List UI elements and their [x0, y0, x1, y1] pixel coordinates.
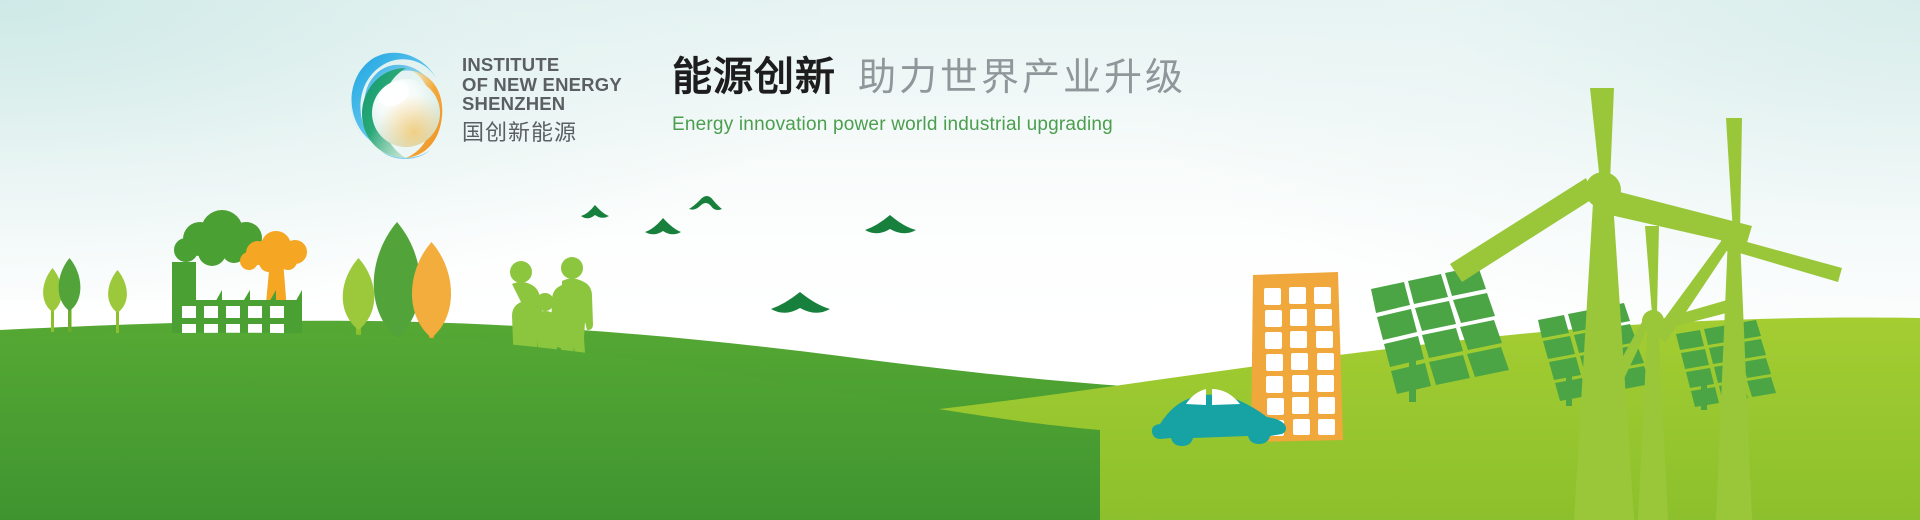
small-trees-left	[43, 258, 127, 333]
headline-row: 能源创新 助力世界产业升级	[672, 44, 1186, 102]
bird-icon	[645, 218, 681, 234]
headline-subtitle: Energy innovation power world industrial…	[672, 114, 1186, 136]
headline-secondary: 助力世界产业升级	[858, 46, 1186, 101]
factory-group	[172, 210, 307, 342]
bird-flock	[581, 196, 916, 313]
globe-swirl-logo-icon	[340, 38, 448, 162]
energy-innovation-banner: INSTITUTE OF NEW ENERGY SHENZHEN 国创新能源 能…	[0, 0, 1920, 520]
logo-line-shenzhen: SHENZHEN	[462, 94, 622, 114]
bird-icon	[689, 196, 722, 210]
trees-mid-group	[343, 222, 451, 352]
logo-text-block: INSTITUTE OF NEW ENERGY SHENZHEN 国创新能源	[462, 51, 622, 149]
grass-valley-fold	[0, 333, 1100, 520]
tree-small	[43, 268, 62, 332]
tree-small	[108, 270, 127, 333]
logo-line-institute: INSTITUTE	[462, 55, 622, 75]
bird-icon	[865, 215, 916, 233]
logo-chinese-name: 国创新能源	[462, 119, 622, 149]
turbine-hub	[1585, 172, 1621, 208]
logo-line-of-new-energy: OF NEW ENERGY	[462, 75, 622, 95]
tree-small	[59, 258, 81, 332]
bird-icon	[581, 205, 609, 218]
turbine-hub	[1642, 310, 1664, 332]
logo-block[interactable]: INSTITUTE OF NEW ENERGY SHENZHEN 国创新能源	[340, 38, 622, 162]
bird-icon	[771, 292, 830, 313]
headline-primary: 能源创新	[672, 44, 836, 102]
headline-block: 能源创新 助力世界产业升级 Energy innovation power wo…	[672, 44, 1186, 136]
